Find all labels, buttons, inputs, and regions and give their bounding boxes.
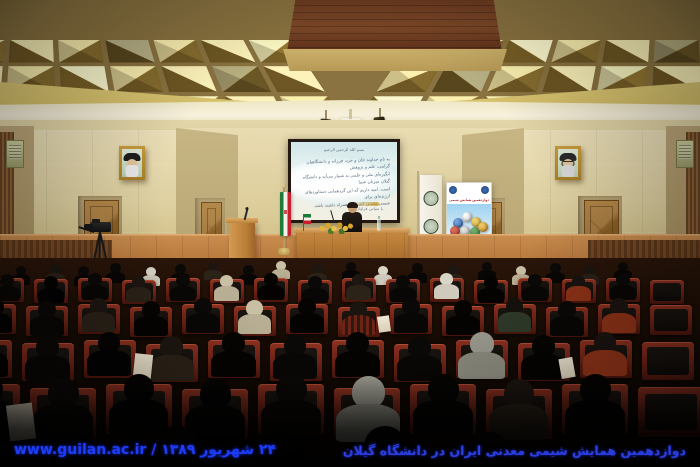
banner-logo-right-icon	[481, 186, 489, 194]
water-bottle	[377, 219, 381, 231]
slide-header: بسم الله الرحمن الرحیم	[291, 147, 397, 152]
wall-speaker-icon	[676, 140, 694, 168]
handout-paper	[377, 315, 391, 333]
ceiling-beam-face	[283, 49, 507, 71]
audience	[0, 258, 700, 467]
ceiling-wood-beam	[287, 0, 502, 52]
banner-molecule-spheres	[447, 204, 491, 238]
banner-title: دوازدهمین همایش شیمی معدنی ایران	[447, 196, 491, 204]
conference-photo: بسم الله الرحمن الرحیم به نام خداوند جان…	[0, 0, 700, 467]
flower-arrangement	[318, 220, 354, 234]
handout-paper	[558, 357, 575, 379]
iran-flag	[276, 188, 292, 262]
desk-iran-flag	[302, 214, 311, 231]
portrait-khomeini	[119, 146, 145, 180]
wall-speaker-icon	[6, 140, 24, 168]
handout-paper	[6, 403, 36, 442]
banner-logo-left-icon	[449, 186, 457, 194]
portrait-khamenei	[555, 146, 581, 180]
